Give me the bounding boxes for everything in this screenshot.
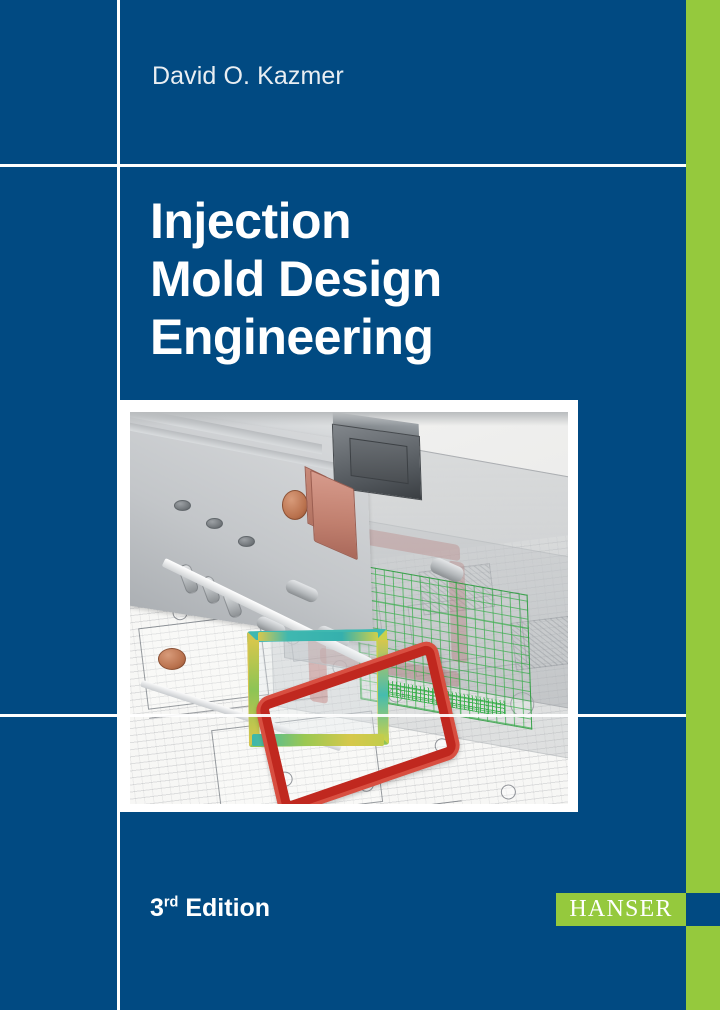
book-cover: David O. Kazmer Injection Mold Design En… [0, 0, 720, 1010]
scene-top-shading [130, 412, 568, 426]
cover-image [130, 412, 568, 804]
title-line-2: Mold Design [150, 250, 570, 308]
scene-seam-line [130, 714, 568, 717]
publisher-name: HANSER [569, 896, 672, 923]
guide-bushing [282, 490, 308, 520]
edition-word: Edition [178, 894, 270, 922]
green-strip-notch [686, 893, 720, 926]
plate-bore [174, 500, 191, 511]
horizontal-rule-top [0, 164, 686, 167]
cae-frame-left-edge [249, 640, 259, 740]
edition-number: 3 [150, 894, 164, 922]
green-accent-strip [686, 0, 720, 1010]
cae-frame-top-edge [258, 632, 378, 641]
title-line-1: Injection [150, 192, 570, 250]
edition-ordinal: rd [164, 895, 179, 911]
book-title: Injection Mold Design Engineering [150, 192, 570, 366]
title-line-3: Engineering [150, 308, 570, 366]
plate-bore [206, 518, 223, 529]
plate-bore [238, 536, 255, 547]
edition-label: 3rd Edition [150, 894, 270, 923]
mold-rendering-scene [130, 412, 568, 804]
publisher-logo: HANSER [556, 893, 686, 926]
author-name: David O. Kazmer [152, 62, 344, 91]
guide-bushing [158, 648, 186, 670]
